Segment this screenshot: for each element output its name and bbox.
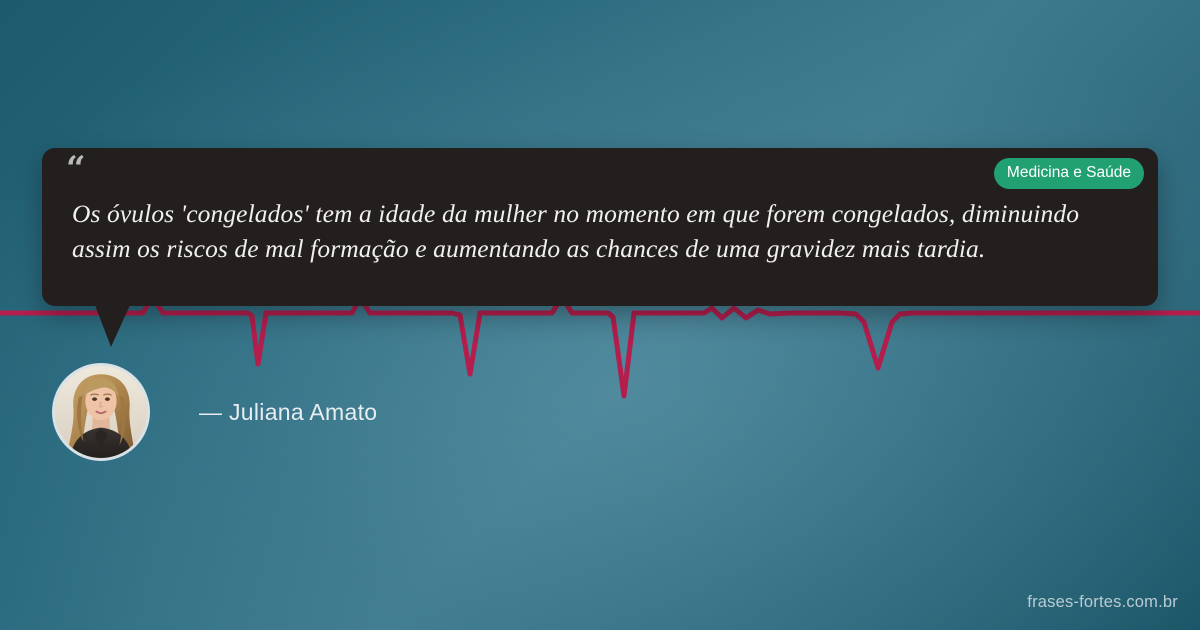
quote-card-tail: [95, 305, 130, 347]
quote-mark-icon: “: [66, 152, 87, 186]
avatar-photo: [55, 366, 147, 458]
quote-card-canvas: “ Medicina e Saúde Os óvulos 'congelados…: [0, 0, 1200, 630]
author-row: — Juliana Amato: [52, 363, 377, 461]
avatar[interactable]: [52, 363, 150, 461]
quote-text: Os óvulos 'congelados' tem a idade da mu…: [72, 196, 1098, 267]
site-watermark: frases-fortes.com.br: [1027, 593, 1178, 612]
category-badge[interactable]: Medicina e Saúde: [994, 158, 1144, 189]
author-name: — Juliana Amato: [199, 399, 377, 426]
quote-card: “ Medicina e Saúde Os óvulos 'congelados…: [42, 148, 1158, 306]
